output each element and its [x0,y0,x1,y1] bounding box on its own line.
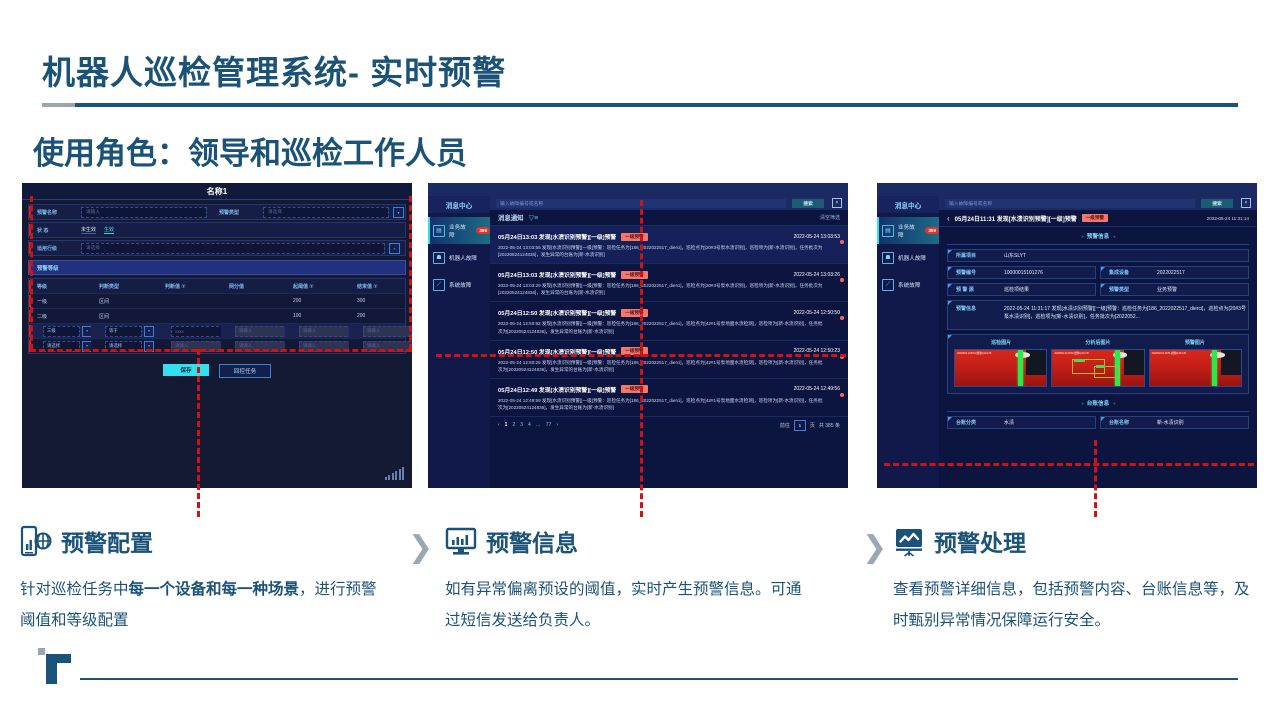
caption-text: 针对巡检任务中每一个设备和每一种场景，进行预警阈值和等级配置 [20,574,390,636]
start-input[interactable]: 请输入 [299,326,349,337]
cell-start-input[interactable]: 请输入 [285,326,349,337]
next-page-button[interactable]: › [556,422,558,428]
image-timestamp: 20220524 11:30:51 [摄像1] 20.2 28 [1152,351,1186,355]
back-icon[interactable]: ‹ [947,214,950,223]
screenshot-alarm-list: 消息中心 ▤ 业务故障 359 ☗ 机器人故障 ⟋ 系统故障 [428,183,848,488]
slide-root: 机器人巡检管理系统- 实时预警 使用角色：领导和巡检工作人员 名称1 预警名称 … [0,0,1280,720]
cell-type: 区间 [91,298,157,305]
robot-icon: ☗ [882,252,894,264]
field-key: 预警编号 [956,269,996,276]
field-key: 台账名称 [1109,419,1149,426]
status-badge: 359 [476,227,490,234]
caption-title: 预警配置 [61,524,153,558]
pagination-goto: 前往 1 页 共 385 条 [780,420,840,431]
image-timestamp: 20220524 11:30:51 [摄像1] 20.2 28 [1054,351,1088,355]
close-icon[interactable]: × [832,198,842,208]
config-window-header: 名称1 [22,183,412,200]
caption-text: 如有异常偏离预设的阈值，实时产生预警信息。可通过短信发送给负责人。 [445,574,815,636]
detail-images: 巡检图片 分析后图片 预警图片 20220524 11:30:51 [摄像1] … [947,334,1249,394]
page-1-button[interactable]: 1 [505,422,508,428]
field-label-name: 预警名称 [29,209,81,216]
field-key: 所属项目 [956,252,996,259]
list-item-header: 05月24日12:50 发现[水渍识别预警][一级]预警 一级预警 2022-0… [498,308,840,317]
title-rule [42,103,1238,107]
image-captions: 巡检图片 分析后图片 预警图片 [954,339,1242,346]
sidebar-item-robot-fault[interactable]: ☗ 机器人故障 [877,244,939,271]
list-item-title-wrap: 05月24日12:50 发现[水渍识别预警][一级]预警 一级预警 [498,308,648,317]
sidebar-item-business-fault[interactable]: ▤ 业务故障 359 [428,217,490,244]
page-last-button[interactable]: 77 [546,422,552,428]
callout-line-2-vertical [640,200,643,517]
field-key: 预警信息 [956,305,996,312]
detail-time: 2022-05-24 11:31:14 [1207,216,1249,221]
caption-alarm-image: 预警图片 [1185,339,1205,346]
callout-line-1-left-edge [30,196,33,350]
sidebar-logo: 消息中心 [428,196,490,213]
sidebar-item-label: 业务故障 [449,223,470,239]
search-button[interactable]: 搜索 [792,199,824,208]
list-header: 消息通知 ▽≡ 清空筛选 [490,210,848,226]
list-item-body: 2022-05-24 12:50:52 发现[水渍识别预警][一级]预警：巡检任… [498,320,823,334]
caption-text-part-bold: 每一个设备和每一种场景 [129,581,300,598]
cell-level: 一级 [29,298,91,305]
page-4-button[interactable]: 4 [528,422,531,428]
list-item[interactable]: 05月24日13:03 发现[水渍识别预警][一级]预警 一级预警 2022-0… [490,226,848,264]
screenshot-alarm-detail: 消息中心 ▤ 业务故障 359 ☗ 机器人故障 ⟋ 系统故障 [877,183,1257,488]
sidebar-item-label: 系统故障 [898,281,920,289]
field-value: 水渍 [1004,419,1014,427]
section-rule [947,244,1249,245]
main-area: 输入故障编号或名称 搜索 × 消息通知 ▽≡ 清空筛选 05月24日13:03 … [490,196,848,488]
config-actions: 保存 回控任务 [28,364,406,378]
sidebar-nav: ▤ 业务故障 359 ☗ 机器人故障 ⟋ 系统故障 [877,213,939,298]
cell-end-input[interactable]: 请输入 [349,326,412,337]
list-item-body: 2022-05-24 12:49:59 发现[水渍识别预警][一级]预警：巡检任… [498,397,823,411]
caption-alarm-handling: 预警处理 查看预警详细信息，包括预警内容、台账信息等，及时甄别异常情况保障运行安… [893,524,1280,636]
save-button[interactable]: 保存 [163,364,209,376]
detail-title: 05月24日11:31 发现[水渍识别预警][一级]预警 [955,214,1077,223]
list-item-title: 05月24日13:03 发现[水渍识别预警][一级]预警 [498,232,616,241]
cell-level: 二级 [29,313,91,320]
field-alarm-no: 预警编号 10000015101276 [947,266,1096,279]
cell-start: 200 [285,298,349,304]
field-project: 所属项目 山东SLYT [947,249,1249,262]
status-radio-group[interactable]: 未生效 生效 [81,226,114,234]
field-alarm-message: 预警信息 2022-05-24 11:31:17 发现[水渍识别预警][一级]预… [947,300,1249,330]
status-badge: 一级预警 [1082,214,1108,222]
field-value: 10000015101276 [1004,269,1043,277]
screenshot-alarm-config: 名称1 预警名称 请输入 预警类型 请选择 ▾ 状 态 未生效 生效 [22,183,412,488]
form-row-status: 状 态 未生效 生效 [28,222,406,238]
caption-text: 查看预警详细信息，包括预警内容、台账信息等，及时甄别异常情况保障运行安全。 [893,574,1263,636]
caption-text-part: 针对巡检任务中 [20,581,129,598]
sidebar: 消息中心 ▤ 业务故障 359 ☗ 机器人故障 ⟋ 系统故障 [877,196,939,488]
cell-value-input[interactable]: xxxx [157,326,221,337]
goto-label: 前往 [780,422,790,429]
corner-bars-decoration [385,467,405,480]
table-header-row: 等级 判断类型 判断值 ⑦ 网分值 起阈值 ⑦ 结束值 ⑦ 操作 [29,279,405,294]
list-item-body: 2022-05-24 12:50:25 发现[水渍识别预警][一级]预警：巡检任… [498,359,823,373]
detail-header: ‹ 05月24日11:31 发现[水渍识别预警][一级]预警 一级预警 2022… [939,210,1257,227]
field-value: 业务预警 [1157,286,1177,294]
decoration-square [38,648,45,655]
caption-analyzed-image: 分析后图片 [1085,339,1110,346]
field-label-scope: 适用行级 [29,245,81,252]
chart-icon: ⟋ [433,279,445,291]
config-window-title: 名称1 [207,186,227,197]
decoration-corner-horizontal [46,654,71,663]
list-item-time: 2022-05-24 13:03:26 [794,272,840,278]
title-rule-cap [42,103,75,107]
detail-area: 输入故障编号或名称 搜索 × ‹ 05月24日11:31 发现[水渍识别预警][… [939,196,1257,488]
status-badge: 一级预警 [621,233,647,241]
thumbnail-analyzed[interactable]: 20220524 11:30:51 [摄像1] 20.2 28 [1051,349,1144,387]
filter-icon[interactable]: ▽≡ [529,214,538,222]
th-value: 判断值 ⑦ [157,283,221,290]
table-row-editing[interactable]: 三级▾ 等于▾ xxxx 请输入 请输入 请输入 [29,324,405,339]
list-item-body: 2022-05-24 13:03:29 发现[水渍识别预警][一级]预警：巡检任… [498,282,823,296]
score-input[interactable]: 请输入 [235,326,285,337]
list-item-title: 05月24日13:03 发现[水渍识别预警][一级]预警 [498,270,616,279]
input-alarm-type[interactable]: 请选择 [263,207,389,218]
unread-dot-icon [840,240,844,244]
window-top-bar [428,183,848,196]
field-value: 巡检项结果 [1004,286,1029,294]
total-count-label: 共 385 条 [819,422,840,429]
list-item[interactable]: 05月24日12:49 发现[水渍识别预警][一级]预警 一级预警 2022-0… [490,379,848,417]
list-item[interactable]: 05月24日13:03 发现[水渍识别预警][一级]预警 一级预警 2022-0… [490,264,848,302]
monitor-chart-icon [445,525,477,557]
search-picker-icon[interactable]: ⌕ [389,243,400,254]
th-end: 结束值 ⑦ [349,283,412,290]
field-key: 预 警 源 [956,286,996,293]
list-header-left: 消息通知 ▽≡ [498,213,538,222]
caption-inspection-image: 巡检图片 [991,339,1011,346]
th-start: 起阈值 ⑦ [285,283,349,290]
cell-type: 区间 [91,313,157,320]
chevron-down-icon[interactable]: ▾ [82,326,91,337]
status-badge: 一级预警 [621,385,647,393]
th-level: 等级 [29,283,91,290]
field-value: 2022022517 [1157,269,1185,277]
chevron-down-icon[interactable]: ▾ [144,326,154,337]
pagination: ‹ 1 2 3 4 … 77 › 前往 1 页 共 385 条 [490,417,848,433]
list-item-title-wrap: 05月24日13:03 发现[水渍识别预警][一级]预警 一级预警 [498,270,648,279]
callout-line-1-horizontal [30,349,412,352]
ledger-fields: 台账分类 水渍 台账名称 新-水渍识别 [939,416,1257,429]
cell-score-input[interactable]: 请输入 [221,326,285,337]
field-device: 集成设备 2022022517 [1100,266,1249,279]
sidebar-logo: 消息中心 [877,196,939,213]
status-badge: 359 [925,227,939,234]
sidebar-item-label: 系统故障 [449,281,471,289]
status-badge: 一级预警 [621,271,647,279]
field-key: 台账分类 [956,419,996,426]
back-to-task-button[interactable]: 回控任务 [219,364,271,378]
field-value: 山东SLYT [1004,252,1026,260]
page-title: 机器人巡检管理系统- 实时预警 [42,46,506,94]
unread-dot-icon [840,316,844,320]
caption-header: 预警配置 [20,524,420,558]
thumbnail-inspection[interactable]: 20220524 11:30:51 [摄像1] 20.2 28 [954,349,1047,387]
list-item[interactable]: 05月24日12:50 发现[水渍识别预警][一级]预警 一级预警 2022-0… [490,302,848,340]
thumbnail-alarm[interactable]: 20220524 11:30:51 [摄像1] 20.2 28 [1149,349,1242,387]
list-item-body: 2022-05-24 13:03:56 发现[水渍识别预警][一级]预警：巡检任… [498,244,823,258]
section-header-levels: 预警等级 [28,260,406,275]
list-item-header: 05月24日12:49 发现[水渍识别预警][一级]预警 一级预警 2022-0… [498,385,840,394]
table-row[interactable]: 二级 区间 100 200 编辑 删除 [29,309,405,324]
window-top-bar [877,183,1257,196]
search-bar: 输入故障编号或名称 搜索 × [490,196,848,210]
end-input[interactable]: 请输入 [363,326,412,337]
cell-end: 300 [349,298,412,304]
robot-icon: ☗ [433,252,445,264]
sidebar-item-business-fault[interactable]: ▤ 业务故障 359 [877,217,939,244]
page-unit-label: 页 [810,422,815,429]
list-item-title-wrap: 05月24日12:49 发现[水渍识别预警][一级]预警 一级预警 [498,385,648,394]
table-row[interactable]: 一级 区间 200 300 编辑 删除 [29,294,405,309]
sidebar-item-label: 业务故障 [898,223,919,239]
close-icon[interactable]: × [1241,198,1251,208]
section-title-alarm-info: 预警信息 [939,232,1257,240]
prev-page-button[interactable]: ‹ [498,422,500,428]
sidebar-item-system-fault[interactable]: ⟋ 系统故障 [877,271,939,298]
image-timestamp: 20220524 11:30:51 [摄像1] 20.2 28 [957,351,991,355]
input-scope[interactable]: 请选择 [81,243,385,254]
flow-arrow-2: ❯ [862,533,887,563]
page-3-button[interactable]: 3 [520,422,523,428]
section-title-levels: 预警等级 [29,264,59,272]
sidebar: 消息中心 ▤ 业务故障 359 ☗ 机器人故障 ⟋ 系统故障 [428,196,490,488]
value-input[interactable]: xxxx [171,326,221,337]
page-ellipsis: … [536,422,541,428]
unread-dot-icon [840,278,844,282]
sidebar-item-label: 机器人故障 [449,254,477,262]
form-row-scope: 适用行级 请选择 ⌕ [28,240,406,256]
th-score: 网分值 [221,283,285,290]
pagination-pages: ‹ 1 2 3 4 … 77 › [498,422,558,428]
type-select[interactable]: 等于 [105,326,142,337]
list-item-time: 2022-05-24 12:49:56 [794,386,840,392]
status-option-active[interactable]: 生效 [104,226,114,234]
input-alarm-name[interactable]: 请输入 [81,207,207,218]
clear-filter-button[interactable]: 清空筛选 [820,214,840,221]
level-select[interactable]: 三级 [43,326,80,337]
footer-rule [80,678,1238,680]
cell-end: 200 [349,313,412,319]
caption-title: 预警处理 [934,524,1026,558]
list-item-header: 05月24日13:03 发现[水渍识别预警][一级]预警 一级预警 2022-0… [498,270,840,279]
field-value: 新-水渍识别 [1157,419,1184,427]
caption-alarm-info: 预警信息 如有异常偏离预设的阈值，实时产生预警信息。可通过短信发送给负责人。 [445,524,845,636]
status-badge: 一级预警 [621,309,647,317]
unread-dot-icon [840,393,844,397]
field-key: 集成设备 [1109,269,1149,276]
field-ledger-name: 台账名称 新-水渍识别 [1100,416,1249,429]
page-2-button[interactable]: 2 [512,422,515,428]
list-item-header: 05月24日13:03 发现[水渍识别预警][一级]预警 一级预警 2022-0… [498,232,840,241]
field-label-status: 状 态 [29,227,81,234]
message-center-detail: 消息中心 ▤ 业务故障 359 ☗ 机器人故障 ⟋ 系统故障 [877,196,1257,488]
sidebar-item-label: 机器人故障 [898,254,926,262]
th-type: 判断类型 [91,283,157,290]
callout-line-1-vertical [197,349,200,517]
sidebar-nav: ▤ 业务故障 359 ☗ 机器人故障 ⟋ 系统故障 [428,213,490,298]
list-item[interactable]: 05月24日12:50 发现[水渍识别预警][一级]预警 一级预警 2022-0… [490,341,848,379]
cell-start: 100 [285,313,349,319]
form-row-name: 预警名称 请输入 预警类型 请选择 ▾ [28,204,406,220]
list-item-time: 2022-05-24 13:03:53 [794,234,840,240]
section-rule [947,411,1249,412]
callout-line-1-right-edge [409,196,412,350]
list-item-title: 05月24日12:49 发现[水渍识别预警][一级]预警 [498,385,616,394]
levels-table: 等级 判断类型 判断值 ⑦ 网分值 起阈值 ⑦ 结束值 ⑦ 操作 一级 区间 2… [28,278,406,354]
cell-level-select[interactable]: 三级▾ [29,326,91,337]
search-button[interactable]: 搜索 [1201,199,1233,208]
callout-line-3-horizontal [884,463,1254,466]
list-item-time: 2022-05-24 12:50:50 [794,310,840,316]
list-item-title-wrap: 05月24日13:03 发现[水渍识别预警][一级]预警 一级预警 [498,232,648,241]
search-bar: 输入故障编号或名称 搜索 × [939,196,1257,210]
status-option-inactive[interactable]: 未生效 [81,226,96,234]
field-alarm-type: 预警类型 业务预警 [1100,283,1249,296]
caption-header: 预警信息 [445,524,845,558]
cell-type-select[interactable]: 等于▾ [91,326,157,337]
sidebar-item-robot-fault[interactable]: ☗ 机器人故障 [428,244,490,271]
chart-icon: ⟋ [882,279,894,291]
list-title: 消息通知 [498,213,524,222]
caption-alarm-config: 预警配置 针对巡检任务中每一个设备和每一种场景，进行预警阈值和等级配置 [20,524,420,636]
section-title-ledger-info: 台账信息 [939,399,1257,407]
caption-title: 预警信息 [486,524,578,558]
chevron-down-icon[interactable]: ▾ [393,207,404,218]
goto-page-input[interactable]: 1 [794,420,806,431]
search-input[interactable]: 输入故障编号或名称 [945,199,1195,208]
field-label-type: 预警类型 [211,209,263,216]
briefcase-icon: ▤ [882,225,894,237]
page-subtitle: 使用角色：领导和巡检工作人员 [33,128,467,173]
briefcase-icon: ▤ [433,225,445,237]
alert-trend-icon [893,525,925,557]
message-center: 消息中心 ▤ 业务故障 359 ☗ 机器人故障 ⟋ 系统故障 [428,196,848,488]
image-row: 20220524 11:30:51 [摄像1] 20.2 28 20220524… [954,349,1242,387]
callout-line-3-vertical [1094,440,1097,517]
field-ledger-category: 台账分类 水渍 [947,416,1096,429]
detail-fields: 所属项目 山东SLYT 预警编号 10000015101276 集成设备 202… [939,249,1257,394]
field-value: 2022-05-24 11:31:17 发现[水渍识别预警][一级]预警：巡检任… [1004,305,1248,321]
list-item-title: 05月24日12:50 发现[水渍识别预警][一级]预警 [498,308,616,317]
caption-header: 预警处理 [893,524,1280,558]
mobile-signal-icon [20,525,52,557]
field-key: 预警类型 [1109,286,1149,293]
field-alarm-source: 预 警 源 巡检项结果 [947,283,1096,296]
sidebar-item-system-fault[interactable]: ⟋ 系统故障 [428,271,490,298]
